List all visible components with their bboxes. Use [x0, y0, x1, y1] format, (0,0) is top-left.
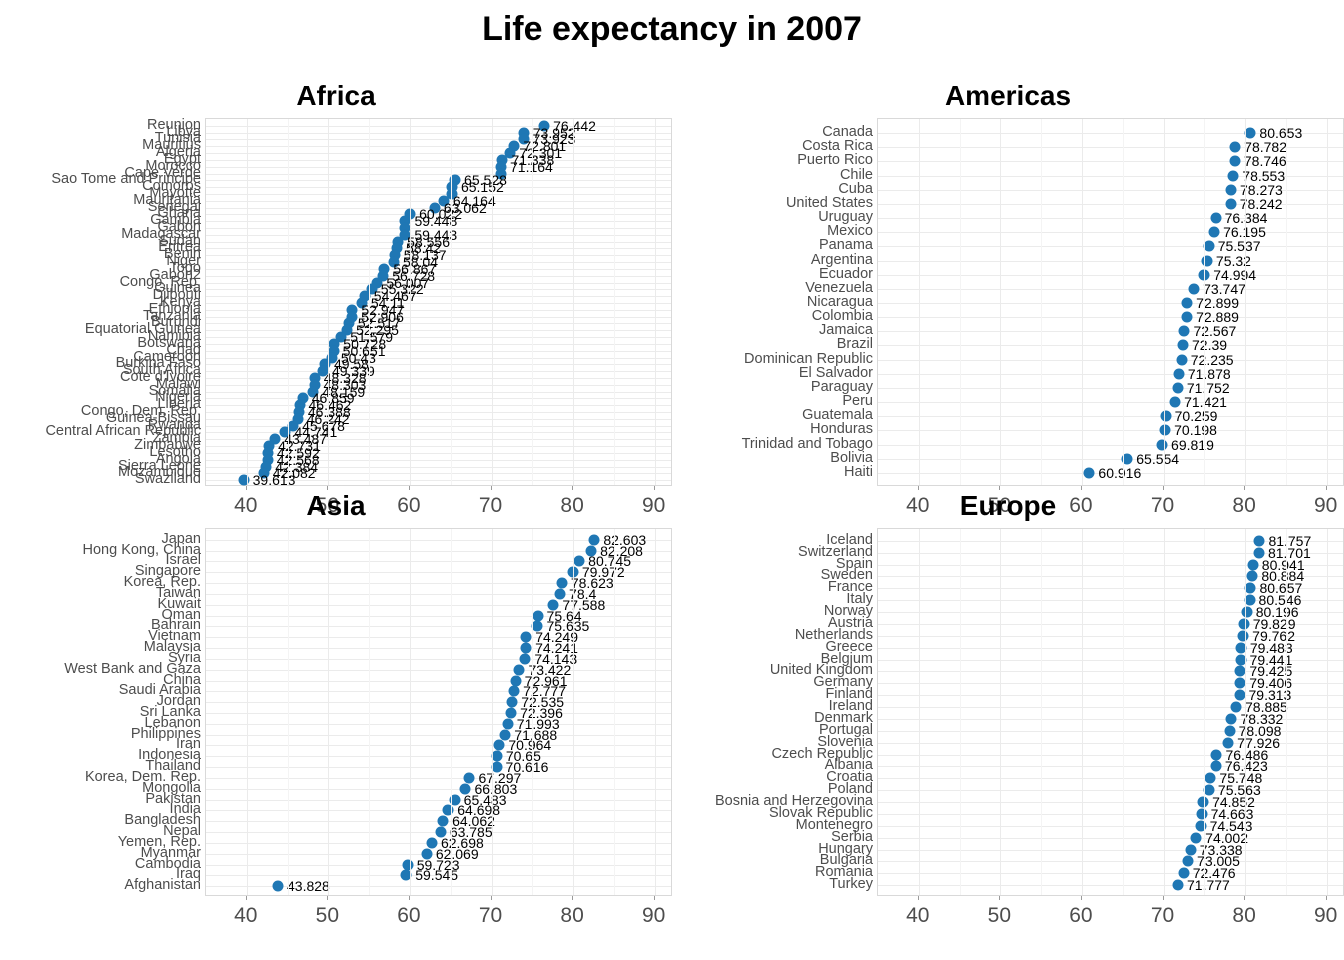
gridline-horizontal: [206, 310, 671, 311]
gridline-horizontal: [206, 180, 671, 181]
plot-panel-europe: 81.75781.70180.94180.88480.65780.54680.1…: [877, 528, 1344, 896]
data-point: [1209, 227, 1220, 238]
gridline-horizontal: [878, 261, 1343, 262]
data-point: [273, 881, 284, 892]
data-point: [1254, 535, 1265, 546]
x-axis-tickmark: [1081, 896, 1082, 900]
gridline-horizontal: [206, 724, 671, 725]
y-axis-tick-label: Haiti: [844, 465, 873, 480]
gridline-vertical-minor: [1286, 119, 1287, 485]
gridline-horizontal: [878, 814, 1343, 815]
data-point-value-label: 78.242: [1240, 197, 1283, 211]
x-axis-tickmark: [1244, 896, 1245, 900]
gridline-vertical-minor: [532, 119, 533, 485]
data-point: [1247, 571, 1258, 582]
data-point: [1230, 142, 1241, 153]
gridline-horizontal: [878, 402, 1343, 403]
gridline-horizontal: [206, 691, 671, 692]
gridline-horizontal: [878, 755, 1343, 756]
gridline-horizontal: [206, 392, 671, 393]
gridline-vertical: [328, 529, 329, 895]
gridline-vertical: [492, 119, 493, 485]
gridline-horizontal: [206, 810, 671, 811]
x-axis-tickmark: [572, 896, 573, 900]
gridline-horizontal: [206, 364, 671, 365]
gridline-horizontal: [206, 276, 671, 277]
gridline-horizontal: [878, 388, 1343, 389]
gridline-vertical: [573, 529, 574, 895]
x-axis-tick-label: 40: [906, 904, 929, 928]
data-point-value-label: 70.259: [1175, 409, 1218, 423]
gridline-horizontal: [206, 843, 671, 844]
facet-body-americas: CanadaCosta RicaPuerto RicoChileCubaUnit…: [672, 118, 1344, 486]
data-point: [464, 772, 475, 783]
y-axis-tick-label: Afghanistan: [124, 878, 201, 893]
y-axis-labels-europe: IcelandSwitzerlandSpainSwedenFranceItaly…: [672, 528, 877, 896]
data-point: [502, 718, 513, 729]
data-point: [1170, 397, 1181, 408]
data-point: [1238, 630, 1249, 641]
plot-panel-asia: 82.60382.20880.74579.97278.62378.477.588…: [205, 528, 672, 896]
gridline-vertical-minor: [451, 529, 452, 895]
gridline-vertical: [328, 119, 329, 485]
data-point-value-label: 78.553: [1242, 169, 1285, 183]
facet-title-africa: Africa: [0, 76, 672, 118]
gridline-vertical-minor: [1123, 119, 1124, 485]
x-axis-tick-label: 60: [397, 904, 420, 928]
gridline-horizontal: [206, 767, 671, 768]
gridline-vertical-minor: [288, 119, 289, 485]
y-axis-labels-asia: JapanHong Kong, ChinaIsraelSingaporeKore…: [0, 528, 205, 896]
gridline-horizontal: [878, 232, 1343, 233]
data-point: [1160, 425, 1171, 436]
gridline-vertical: [1327, 119, 1328, 485]
data-point: [1157, 439, 1168, 450]
facet-title-asia: Asia: [0, 486, 672, 528]
data-point: [1172, 382, 1183, 393]
gridline-horizontal: [206, 133, 671, 134]
data-point-value-label: 73.747: [1203, 282, 1246, 296]
gridline-horizontal: [878, 766, 1343, 767]
facet-americas: Americas CanadaCosta RicaPuerto RicoChil…: [672, 76, 1344, 486]
gridline-horizontal: [206, 323, 671, 324]
data-point: [1173, 368, 1184, 379]
gridline-horizontal: [206, 283, 671, 284]
data-point-value-label: 43.828: [287, 879, 330, 893]
x-axis-tickmark: [246, 896, 247, 900]
x-axis-tick-label: 50: [988, 904, 1011, 928]
gridline-vertical: [1245, 529, 1246, 895]
data-point-value-label: 65.554: [1136, 452, 1179, 466]
gridline-horizontal: [206, 385, 671, 386]
data-point: [1228, 170, 1239, 181]
y-axis-tick-label: Swaziland: [135, 472, 201, 487]
x-axis-tickmark: [409, 896, 410, 900]
data-point: [1182, 312, 1193, 323]
gridline-horizontal: [878, 218, 1343, 219]
data-point: [1245, 583, 1256, 594]
gridline-vertical-minor: [1041, 119, 1042, 485]
gridline-horizontal: [206, 616, 671, 617]
gridline-horizontal: [206, 174, 671, 175]
gridline-horizontal: [878, 331, 1343, 332]
data-point-value-label: 69.819: [1171, 438, 1214, 452]
gridline-horizontal: [206, 594, 671, 595]
data-point: [1196, 808, 1207, 819]
gridline-horizontal: [878, 289, 1343, 290]
gridline-vertical: [1082, 529, 1083, 895]
facet-title-americas: Americas: [672, 76, 1344, 118]
data-point: [507, 697, 518, 708]
gridline-horizontal: [206, 412, 671, 413]
x-axis-europe: 405060708090: [877, 896, 1344, 940]
x-axis-tick-label: 80: [1232, 904, 1255, 928]
gridline-horizontal: [878, 303, 1343, 304]
gridline-horizontal: [206, 626, 671, 627]
data-point: [510, 675, 521, 686]
data-point: [1201, 255, 1212, 266]
data-point: [532, 610, 543, 621]
data-point-value-label: 72.889: [1196, 310, 1239, 324]
data-point: [1182, 298, 1193, 309]
data-point: [506, 708, 517, 719]
y-axis-tick-label: Turkey: [829, 877, 873, 892]
gridline-horizontal: [878, 838, 1343, 839]
x-axis-tickmark: [1326, 896, 1327, 900]
gridline-horizontal: [206, 167, 671, 168]
gridline-vertical: [1000, 119, 1001, 485]
x-axis-tickmark: [918, 896, 919, 900]
data-point: [589, 534, 600, 545]
x-axis-tick-label: 80: [560, 904, 583, 928]
chart-root: Life expectancy in 2007 Africa ReunionLi…: [0, 0, 1344, 960]
data-point: [402, 859, 413, 870]
gridline-horizontal: [206, 317, 671, 318]
gridline-horizontal: [206, 426, 671, 427]
gridline-vertical-minor: [614, 529, 615, 895]
gridline-horizontal: [878, 873, 1343, 874]
gridline-vertical-minor: [451, 119, 452, 485]
data-point: [1210, 213, 1221, 224]
x-axis-tick-label: 50: [316, 904, 339, 928]
gridline-horizontal: [206, 344, 671, 345]
gridline-horizontal: [206, 269, 671, 270]
x-axis-tickmark: [654, 896, 655, 900]
facet-body-europe: IcelandSwitzerlandSpainSwedenFranceItaly…: [672, 528, 1344, 896]
x-axis-tick-label: 60: [1069, 904, 1092, 928]
gridline-vertical: [1082, 119, 1083, 485]
data-point: [1225, 198, 1236, 209]
gridline-horizontal: [878, 360, 1343, 361]
gridline-horizontal: [206, 659, 671, 660]
data-point: [1205, 773, 1216, 784]
gridline-horizontal: [206, 330, 671, 331]
data-point-value-label: 72.567: [1193, 324, 1236, 338]
data-point: [1185, 844, 1196, 855]
data-point: [1084, 467, 1095, 478]
data-point: [1226, 713, 1237, 724]
gridline-horizontal: [206, 262, 671, 263]
data-point: [509, 686, 520, 697]
data-point: [521, 643, 532, 654]
plot-panel-africa: 76.44273.95273.92372.80172.30171.33871.1…: [205, 118, 672, 486]
page-title: Life expectancy in 2007: [0, 10, 1344, 49]
data-point-value-label: 72.39: [1192, 338, 1227, 352]
gridline-vertical: [410, 529, 411, 895]
gridline-vertical-minor: [1123, 529, 1124, 895]
data-point: [1178, 340, 1189, 351]
gridline-horizontal: [206, 146, 671, 147]
gridline-horizontal: [878, 885, 1343, 886]
gridline-horizontal: [878, 317, 1343, 318]
data-point: [1235, 678, 1246, 689]
gridline-vertical-minor: [288, 529, 289, 895]
gridline-horizontal: [206, 289, 671, 290]
gridline-horizontal: [206, 126, 671, 127]
gridline-horizontal: [206, 139, 671, 140]
gridline-horizontal: [878, 790, 1343, 791]
data-point-value-label: 71.752: [1187, 381, 1230, 395]
x-axis-tick-label: 90: [642, 904, 665, 928]
gridline-vertical: [1164, 119, 1165, 485]
gridline-horizontal: [878, 826, 1343, 827]
gridline-horizontal: [206, 745, 671, 746]
data-point: [1229, 156, 1240, 167]
x-axis-tickmark: [999, 896, 1000, 900]
gridline-horizontal: [206, 681, 671, 682]
data-point-value-label: 75.537: [1218, 239, 1261, 253]
gridline-vertical: [247, 119, 248, 485]
gridline-horizontal: [206, 337, 671, 338]
gridline-horizontal: [206, 187, 671, 188]
x-axis-tick-label: 70: [1151, 904, 1174, 928]
data-point-value-label: 71.421: [1184, 395, 1227, 409]
gridline-vertical-minor: [369, 529, 370, 895]
gridline-horizontal: [206, 670, 671, 671]
data-point-value-label: 72.899: [1196, 296, 1239, 310]
gridline-vertical: [1164, 529, 1165, 895]
gridline-horizontal: [206, 351, 671, 352]
data-point-value-label: 70.198: [1174, 423, 1217, 437]
data-point: [1234, 690, 1245, 701]
x-axis-tickmark: [327, 896, 328, 900]
gridline-horizontal: [206, 540, 671, 541]
gridline-vertical: [655, 119, 656, 485]
gridline-vertical: [1327, 529, 1328, 895]
facet-asia: Asia JapanHong Kong, ChinaIsraelSingapor…: [0, 486, 672, 896]
facet-body-africa: ReunionLibyaTunisiaMauritiusAlgeriaEgypt…: [0, 118, 672, 486]
gridline-vertical: [1000, 529, 1001, 895]
gridline-horizontal: [206, 713, 671, 714]
gridline-horizontal: [206, 419, 671, 420]
data-point: [1211, 749, 1222, 760]
gridline-horizontal: [878, 445, 1343, 446]
gridline-horizontal: [878, 861, 1343, 862]
gridline-vertical-minor: [960, 529, 961, 895]
facet-africa: Africa ReunionLibyaTunisiaMauritiusAlger…: [0, 76, 672, 486]
data-point: [1245, 128, 1256, 139]
gridline-horizontal: [206, 371, 671, 372]
gridline-horizontal: [206, 398, 671, 399]
data-point: [1173, 880, 1184, 891]
data-point-value-label: 78.746: [1244, 154, 1287, 168]
gridline-vertical: [247, 529, 248, 895]
data-point: [1179, 326, 1190, 337]
gridline-horizontal: [206, 778, 671, 779]
gridline-vertical: [1245, 119, 1246, 485]
gridline-horizontal: [206, 160, 671, 161]
gridline-horizontal: [206, 405, 671, 406]
gridline-horizontal: [878, 802, 1343, 803]
gridline-horizontal: [878, 459, 1343, 460]
data-point: [494, 740, 505, 751]
gridline-horizontal: [878, 246, 1343, 247]
x-axis-tickmark: [491, 896, 492, 900]
data-point-value-label: 78.273: [1240, 183, 1283, 197]
gridline-vertical-minor: [1041, 529, 1042, 895]
gridline-horizontal: [206, 194, 671, 195]
gridline-horizontal: [206, 702, 671, 703]
data-point: [1224, 725, 1235, 736]
data-point-value-label: 72.235: [1191, 353, 1234, 367]
gridline-vertical: [655, 529, 656, 895]
gridline-horizontal: [206, 637, 671, 638]
gridline-vertical: [573, 119, 574, 485]
data-point-value-label: 80.653: [1259, 126, 1302, 140]
gridline-horizontal: [878, 850, 1343, 851]
gridline-vertical: [492, 529, 493, 895]
gridline-horizontal: [878, 430, 1343, 431]
facet-europe: Europe IcelandSwitzerlandSpainSwedenFran…: [672, 486, 1344, 896]
x-axis-asia: 405060708090: [205, 896, 672, 940]
facet-title-europe: Europe: [672, 486, 1344, 528]
data-point: [1241, 607, 1252, 618]
gridline-horizontal: [878, 778, 1343, 779]
x-axis-tick-label: 70: [479, 904, 502, 928]
data-point: [1226, 184, 1237, 195]
x-axis-tick-label: 40: [234, 904, 257, 928]
y-axis-labels-africa: ReunionLibyaTunisiaMauritiusAlgeriaEgypt…: [0, 118, 205, 486]
gridline-vertical: [919, 529, 920, 895]
data-point: [438, 816, 449, 827]
gridline-horizontal: [878, 275, 1343, 276]
gridline-horizontal: [206, 789, 671, 790]
data-point: [1189, 283, 1200, 294]
data-point-value-label: 74.994: [1213, 268, 1256, 282]
plot-panel-americas: 80.65378.78278.74678.55378.27378.24276.3…: [877, 118, 1344, 486]
gridline-horizontal: [206, 446, 671, 447]
data-point: [1198, 797, 1209, 808]
gridline-horizontal: [206, 800, 671, 801]
gridline-horizontal: [206, 303, 671, 304]
data-point: [514, 664, 525, 675]
data-point-value-label: 78.782: [1244, 140, 1287, 154]
gridline-horizontal: [206, 153, 671, 154]
gridline-horizontal: [206, 756, 671, 757]
gridline-horizontal: [206, 648, 671, 649]
y-axis-labels-americas: CanadaCosta RicaPuerto RicoChileCubaUnit…: [672, 118, 877, 486]
x-axis-tick-label: 90: [1314, 904, 1337, 928]
data-point: [1176, 354, 1187, 365]
gridline-vertical: [410, 119, 411, 485]
data-point: [521, 632, 532, 643]
facet-body-asia: JapanHong Kong, ChinaIsraelSingaporeKore…: [0, 528, 672, 896]
gridline-horizontal: [206, 378, 671, 379]
data-point-value-label: 71.777: [1187, 878, 1230, 892]
gridline-horizontal: [878, 345, 1343, 346]
gridline-horizontal: [878, 416, 1343, 417]
data-point: [556, 578, 567, 589]
gridline-horizontal: [206, 296, 671, 297]
data-point: [491, 751, 502, 762]
gridline-horizontal: [206, 358, 671, 359]
gridline-vertical-minor: [960, 119, 961, 485]
data-point-value-label: 71.878: [1188, 367, 1231, 381]
gridline-vertical-minor: [1204, 529, 1205, 895]
gridline-horizontal: [878, 374, 1343, 375]
facet-grid: Africa ReunionLibyaTunisiaMauritiusAlger…: [0, 76, 1344, 960]
gridline-vertical-minor: [1204, 119, 1205, 485]
data-point: [1247, 559, 1258, 570]
x-axis-tickmark: [1163, 896, 1164, 900]
gridline-vertical: [919, 119, 920, 485]
gridline-vertical-minor: [532, 529, 533, 895]
data-point-value-label: 60.916: [1098, 466, 1141, 480]
gridline-vertical-minor: [1286, 529, 1287, 895]
gridline-horizontal: [206, 735, 671, 736]
data-point: [1160, 411, 1171, 422]
gridline-vertical-minor: [614, 119, 615, 485]
data-point: [1238, 618, 1249, 629]
gridline-vertical-minor: [369, 119, 370, 485]
